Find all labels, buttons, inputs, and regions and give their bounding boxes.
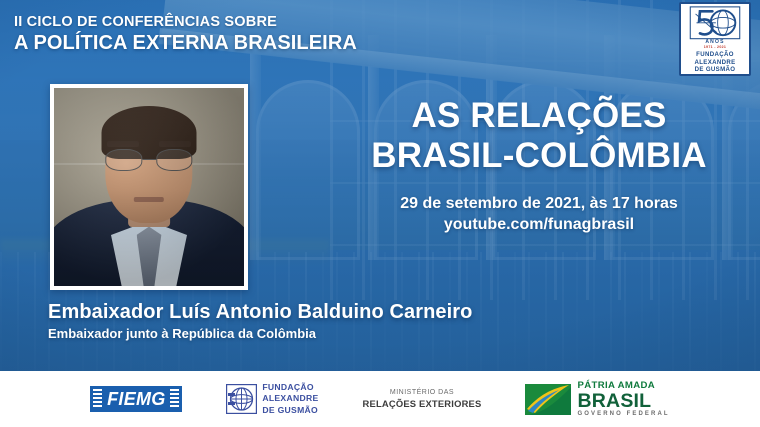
speaker-role: Embaixador junto à República da Colômbia — [48, 326, 473, 342]
speaker-photo-frame — [50, 84, 248, 290]
funag-50-years-range: 1971 - 2021 — [704, 46, 726, 50]
header-line-1: II CICLO DE CONFERÊNCIAS SOBRE — [14, 14, 357, 31]
funag-50-name-line-3: DE GUSMÃO — [694, 66, 735, 74]
conference-poster: II CICLO DE CONFERÊNCIAS SOBRE A POLÍTIC… — [0, 0, 760, 427]
speaker-info-block: Embaixador Luís Antonio Balduino Carneir… — [48, 300, 473, 342]
ministry-line-1: MINISTÉRIO DAS — [363, 389, 482, 397]
header-title-block: II CICLO DE CONFERÊNCIAS SOBRE A POLÍTIC… — [14, 14, 357, 55]
footer-logo-bar: FIEMG FUNDAÇÃO ALEXANDRE DE GUSMÃO MINIS… — [0, 371, 760, 427]
header-line-2: A POLÍTICA EXTERNA BRASILEIRA — [14, 32, 357, 55]
event-datetime: 29 de setembro de 2021, às 17 horas — [330, 193, 748, 215]
main-title-line-1: AS RELAÇÕES — [330, 96, 748, 136]
brazil-flag-swoosh-icon — [525, 384, 571, 415]
ministry-line-2: RELAÇÕES EXTERIORES — [363, 398, 482, 409]
funag-50-monogram-icon — [686, 6, 744, 40]
patria-amada-line-3: GOVERNO FEDERAL — [577, 411, 669, 417]
fiemg-logo: FIEMG — [90, 386, 182, 412]
fiemg-wordmark: FIEMG — [107, 389, 166, 410]
funag-footer-line-2: ALEXANDRE — [262, 393, 318, 404]
fiemg-stripes-right — [170, 389, 179, 409]
funag-50-anniversary-logo: ANOS 1971 - 2021 FUNDAÇÃO ALEXANDRE DE G… — [679, 2, 751, 76]
speaker-name: Embaixador Luís Antonio Balduino Carneir… — [48, 300, 473, 324]
funag-50-anos-label: ANOS — [705, 40, 724, 45]
ministry-of-foreign-affairs-logo: MINISTÉRIO DAS RELAÇÕES EXTERIORES — [363, 389, 482, 409]
fiemg-stripes-left — [93, 389, 102, 409]
photo-shading — [54, 88, 244, 286]
event-stream-url[interactable]: youtube.com/funagbrasil — [330, 214, 748, 236]
main-title-block: AS RELAÇÕES BRASIL-COLÔMBIA 29 de setemb… — [330, 96, 748, 236]
patria-amada-brasil-logo: PÁTRIA AMADA BRASIL GOVERNO FEDERAL — [525, 381, 669, 417]
funag-footer-logo: FUNDAÇÃO ALEXANDRE DE GUSMÃO — [226, 382, 318, 416]
main-title-line-2: BRASIL-COLÔMBIA — [330, 136, 748, 176]
funag-footer-line-3: DE GUSMÃO — [262, 405, 318, 416]
speaker-photo — [54, 88, 244, 286]
funag-50-name-line-1: FUNDAÇÃO — [694, 51, 735, 59]
funag-footer-line-1: FUNDAÇÃO — [262, 382, 318, 393]
funag-50-name-line-2: ALEXANDRE — [694, 59, 735, 67]
patria-amada-line-2: BRASIL — [577, 391, 669, 411]
funag-globe-icon — [226, 384, 257, 414]
